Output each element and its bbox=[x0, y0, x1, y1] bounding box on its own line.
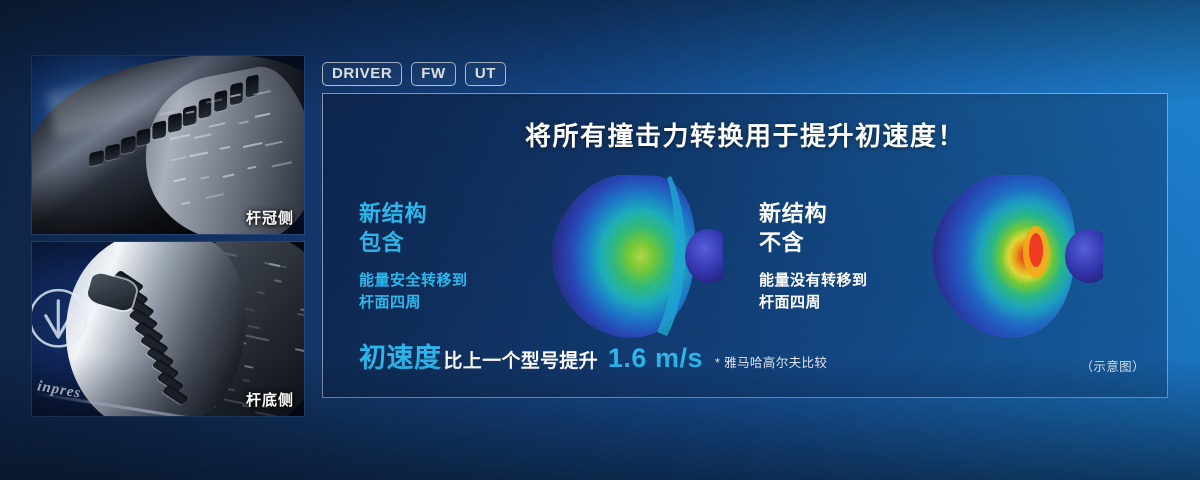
photo-caption-crown: 杆冠侧 bbox=[246, 207, 294, 228]
badge-ut[interactable]: UT bbox=[465, 62, 506, 86]
badge-driver[interactable]: DRIVER bbox=[322, 62, 402, 86]
stat-value: 1.6 m/s bbox=[608, 343, 703, 374]
column-right-subtext-line2: 杆面四周 bbox=[759, 292, 868, 314]
column-left-subtext: 能量安全转移到 杆面四周 bbox=[359, 270, 468, 314]
stat-middle-text: 比上一个型号提升 bbox=[444, 346, 598, 373]
heatmap-with-structure bbox=[541, 170, 723, 342]
column-without-structure: 新结构 不含 能量没有转移到 杆面四周 bbox=[759, 199, 868, 314]
club-type-badges: DRIVER FW UT bbox=[322, 62, 506, 86]
column-left-subtext-line1: 能量安全转移到 bbox=[359, 270, 468, 292]
feature-panel: 将所有撞击力转换用于提升初速度！ 新结构 包含 能量安全转移到 杆面四周 bbox=[322, 93, 1168, 398]
column-right-subtext: 能量没有转移到 杆面四周 bbox=[759, 270, 868, 314]
column-left-subtext-line2: 杆面四周 bbox=[359, 292, 468, 314]
heatmap-without-structure bbox=[921, 170, 1103, 342]
column-right-heading-line1: 新结构 bbox=[759, 199, 868, 228]
speed-stat-line: 初速度 比上一个型号提升 1.6 m/s * 雅马哈高尔夫比较 bbox=[359, 336, 827, 375]
column-right-heading: 新结构 不含 bbox=[759, 199, 868, 258]
column-right-heading-line2: 不含 bbox=[759, 228, 868, 257]
column-left-heading: 新结构 包含 bbox=[359, 199, 468, 258]
schematic-note: （示意图） bbox=[1080, 356, 1145, 375]
photo-caption-sole: 杆底侧 bbox=[246, 389, 294, 410]
driver-sole-photo: inpres 杆底侧 bbox=[32, 242, 304, 416]
driver-crown-photo: 杆冠侧 bbox=[32, 56, 304, 234]
page-background: 杆冠侧 inpres 杆底侧 DRIVER FW UT 将所有撞击力转换用于提升… bbox=[0, 0, 1200, 480]
column-left-heading-line1: 新结构 bbox=[359, 199, 468, 228]
column-left-heading-line2: 包含 bbox=[359, 228, 468, 257]
stat-key: 初速度 bbox=[359, 336, 442, 375]
badge-fw[interactable]: FW bbox=[411, 62, 456, 86]
panel-title: 将所有撞击力转换用于提升初速度！ bbox=[323, 116, 1167, 153]
column-with-structure: 新结构 包含 能量安全转移到 杆面四周 bbox=[359, 199, 468, 314]
stat-footnote: * 雅马哈高尔夫比较 bbox=[715, 352, 827, 371]
column-right-subtext-line1: 能量没有转移到 bbox=[759, 270, 868, 292]
yamaha-tuning-fork-logo bbox=[32, 287, 89, 339]
